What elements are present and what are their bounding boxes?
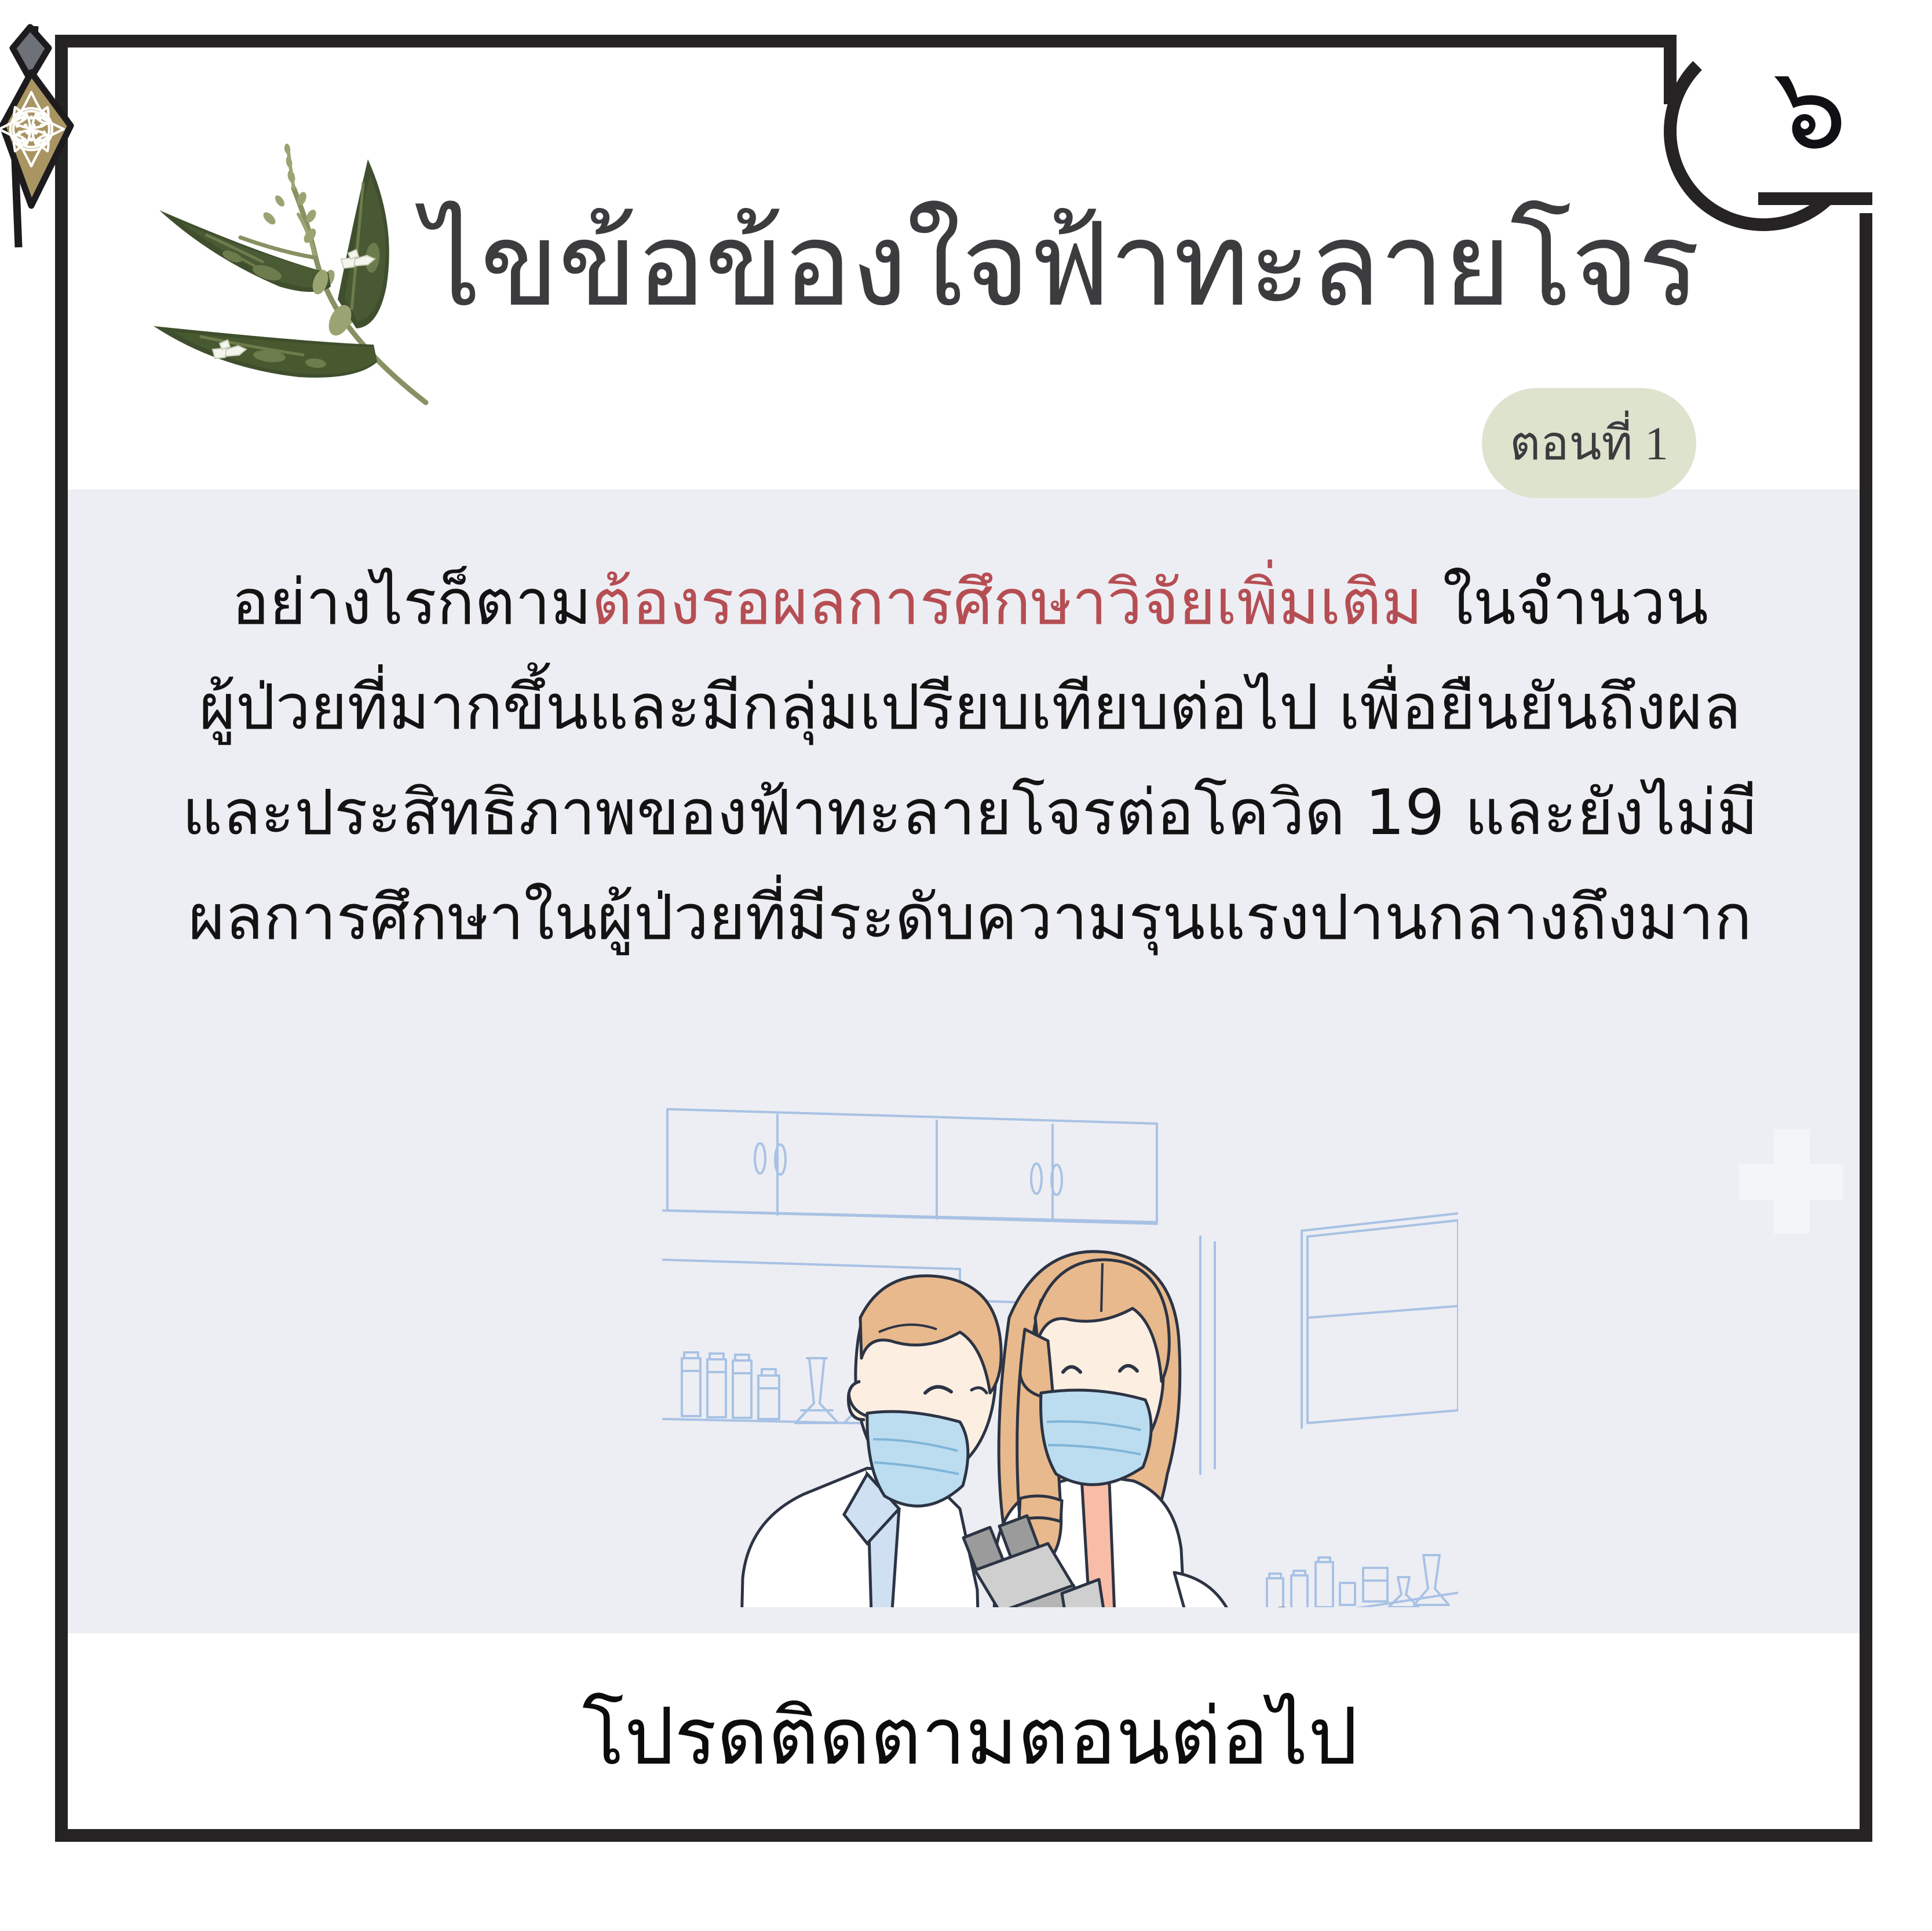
footer: โปรดติดตามตอนต่อไป bbox=[68, 1668, 1872, 1807]
body-paragraph: อย่างไรก็ตามต้องรอผลการศึกษาวิจัยเพิ่มเต… bbox=[68, 550, 1872, 971]
body-line-3: และประสิทธิภาพของฟ้าทะลายโจรต่อโควิด 19 … bbox=[91, 760, 1849, 865]
medical-plus-watermark bbox=[1739, 1129, 1843, 1234]
body-line-1-normal-a: อย่างไรก็ตาม bbox=[232, 566, 591, 639]
content-panel: อย่างไรก็ตามต้องรอผลการศึกษาวิจัยเพิ่มเต… bbox=[68, 489, 1872, 1633]
body-line-2: ผู้ป่วยที่มากขึ้นและมีกลุ่มเปรียบเทียบต่… bbox=[91, 655, 1849, 760]
body-line-1: อย่างไรก็ตามต้องรอผลการศึกษาวิจัยเพิ่มเต… bbox=[91, 550, 1849, 655]
laboratory-illustration bbox=[636, 1069, 1458, 1607]
andrographis-sprig bbox=[125, 113, 449, 408]
footer-text: โปรดติดตามตอนต่อไป bbox=[582, 1690, 1358, 1784]
episode-badge: ตอนที่ 1 bbox=[1482, 388, 1696, 498]
page-number: ๖ bbox=[1744, 36, 1877, 181]
body-line-1-normal-b: ในจำนวน bbox=[1423, 566, 1708, 639]
lotus-mandala-emblem bbox=[0, 14, 139, 258]
body-line-4: ผลการศึกษาในผู้ป่วยที่มีระดับความรุนแรงป… bbox=[91, 865, 1849, 970]
page-title: ไขข้อข้องใจฟ้าทะลายโจร bbox=[423, 203, 1813, 330]
body-line-1-highlight: ต้องรอผลการศึกษาวิจัยเพิ่มเติม bbox=[591, 566, 1423, 639]
